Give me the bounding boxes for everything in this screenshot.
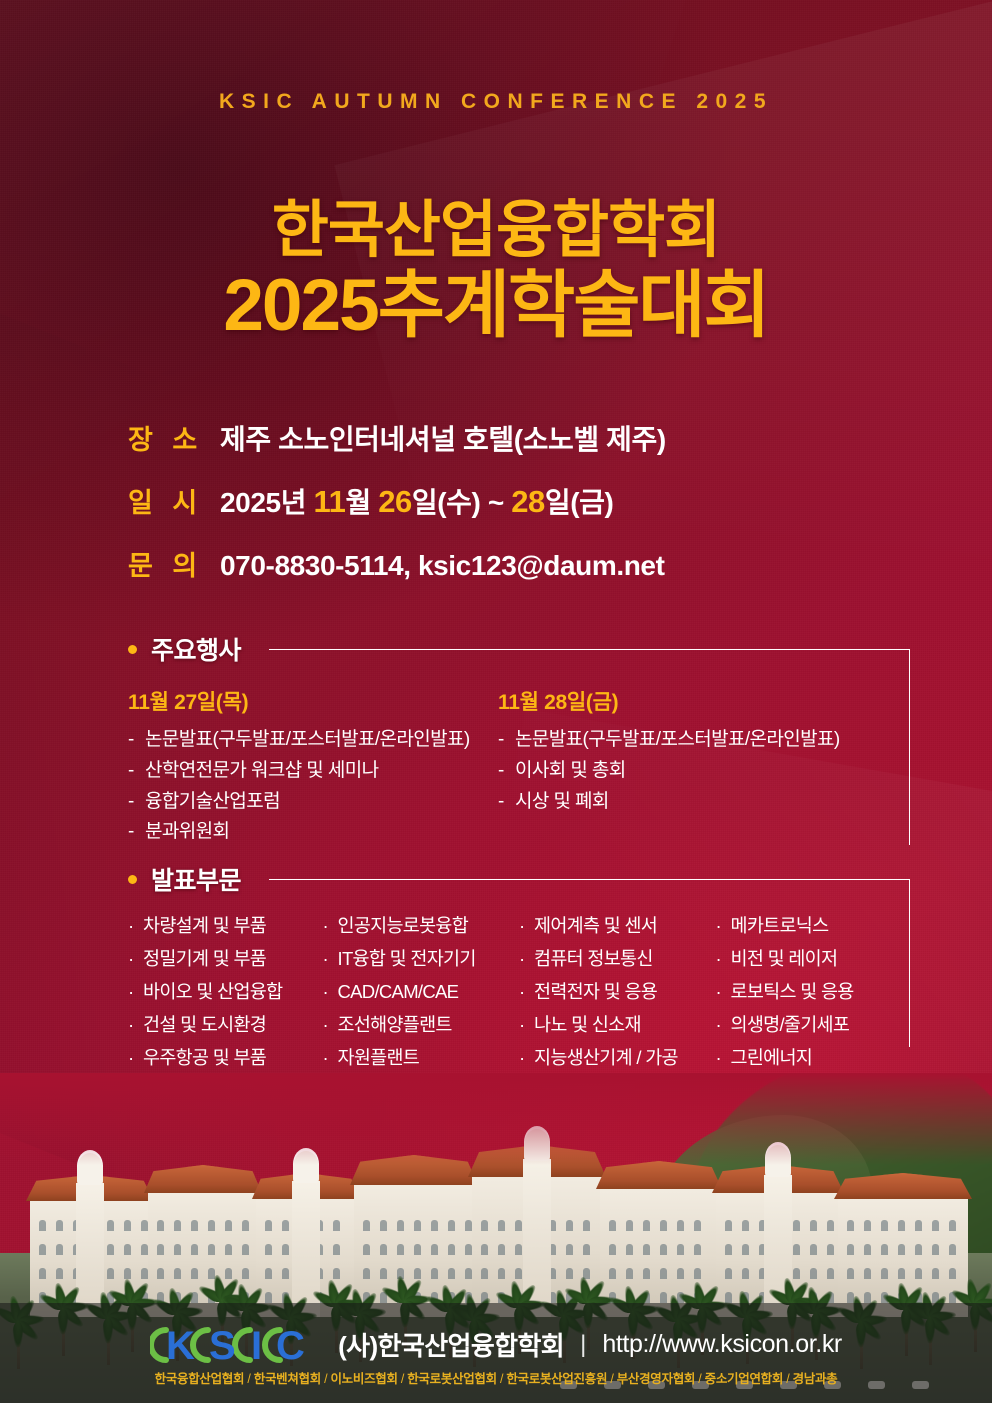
fields-column-4: ·메카트로닉스 ·비전 및 레이저 ·로보틱스 및 응용 ·의생명/줄기세포 ·… — [716, 910, 911, 1075]
field-item: ·자원플랜트 — [323, 1042, 520, 1075]
info-row-venue: 장 소 제주 소노인터네셔널 호텔(소노벨 제주) — [128, 418, 888, 458]
building-window — [242, 1220, 249, 1231]
building-window — [583, 1220, 590, 1231]
building-window — [660, 1244, 667, 1255]
bullet-marker: · — [128, 943, 143, 976]
building-window — [465, 1244, 472, 1255]
building-window — [208, 1220, 215, 1231]
field-item-label: 조선해양플랜트 — [338, 1014, 452, 1035]
organization-name: (사)한국산업융합학회 — [338, 1326, 564, 1363]
info-row-contact: 문 의 070-8830-5114, ksic123@daum.net — [128, 544, 888, 583]
events-heading: 주요행사 — [151, 631, 241, 667]
field-item: ·비전 및 레이저 — [716, 943, 911, 976]
building-window — [898, 1220, 905, 1231]
field-item: ·정밀기계 및 부품 — [128, 943, 323, 976]
building-window — [107, 1220, 114, 1231]
building-window — [810, 1244, 817, 1255]
building-window — [793, 1268, 800, 1279]
building-window — [626, 1244, 633, 1255]
events-item: -이사회 및 총회 — [498, 756, 868, 787]
events-column-day2: 11월 28일(금) -논문발표(구두발표/포스터발표/온라인발표) -이사회 … — [498, 686, 868, 848]
conference-poster: KSIC AUTUMN CONFERENCE 2025 한국산업융합학회 202… — [0, 0, 992, 1403]
building-window — [124, 1220, 131, 1231]
building-window — [448, 1268, 455, 1279]
events-date-day2: 11월 28일(금) — [498, 686, 868, 716]
building-window — [282, 1244, 289, 1255]
events-item: -논문발표(구두발표/포스터발표/온라인발표) — [128, 725, 498, 756]
hotel-roof — [596, 1161, 722, 1189]
building-window — [742, 1244, 749, 1255]
building-window — [481, 1244, 488, 1255]
building-window — [810, 1220, 817, 1231]
building-window — [265, 1268, 272, 1279]
bullet-marker: · — [323, 910, 338, 943]
dash-marker: - — [128, 817, 145, 848]
events-item-label: 산학연전문가 워크샵 및 세미나 — [145, 760, 378, 781]
building-window — [333, 1244, 340, 1255]
building-window — [107, 1268, 114, 1279]
building-window — [265, 1244, 272, 1255]
building-window — [225, 1244, 232, 1255]
section-rule-vertical — [909, 879, 910, 1047]
building-window — [742, 1220, 749, 1231]
events-item: -논문발표(구두발표/포스터발표/온라인발표) — [498, 725, 868, 756]
building-window — [949, 1268, 956, 1279]
events-item-label: 논문발표(구두발표/포스터발표/온라인발표) — [515, 729, 840, 750]
building-window — [363, 1268, 370, 1279]
building-window — [107, 1244, 114, 1255]
building-window — [949, 1220, 956, 1231]
building-window — [725, 1244, 732, 1255]
events-item: -산학연전문가 워크샵 및 세미나 — [128, 756, 498, 787]
hotel-roof — [350, 1155, 478, 1185]
field-item: ·전력전자 및 응용 — [519, 976, 716, 1009]
dash-marker: - — [498, 725, 515, 756]
events-item: -시상 및 폐회 — [498, 787, 868, 818]
building-window — [515, 1268, 522, 1279]
building-window — [677, 1268, 684, 1279]
field-item: ·컴퓨터 정보통신 — [519, 943, 716, 976]
date-end-suffix: 일(금) — [545, 487, 614, 518]
field-item-label: 자원플랜트 — [338, 1047, 420, 1068]
building-window — [56, 1244, 63, 1255]
dash-marker: - — [128, 756, 145, 787]
building-window — [333, 1220, 340, 1231]
building-window — [363, 1244, 370, 1255]
building-window — [191, 1268, 198, 1279]
affiliate-name: 한국융합산업협회 — [155, 1372, 245, 1386]
fields-section: 발표부문 ·차량설계 및 부품 ·정밀기계 및 부품 ·바이오 및 산업융합 ·… — [128, 862, 910, 1075]
svg-text:K: K — [166, 1324, 195, 1367]
hotel-roof — [144, 1165, 262, 1193]
bullet-marker: · — [519, 1009, 534, 1042]
building-window — [191, 1244, 198, 1255]
field-item-label: CAD/CAM/CAE — [338, 981, 459, 1002]
field-item-label: 나노 및 신소재 — [534, 1014, 641, 1035]
field-item: ·나노 및 신소재 — [519, 1009, 716, 1042]
building-window — [881, 1220, 888, 1231]
field-item-label: 비전 및 레이저 — [731, 948, 838, 969]
field-item: ·CAD/CAM/CAE — [323, 976, 520, 1009]
building-window — [56, 1220, 63, 1231]
building-window — [124, 1268, 131, 1279]
building-window — [282, 1220, 289, 1231]
building-window — [949, 1244, 956, 1255]
fields-heading: 발표부문 — [151, 861, 241, 897]
events-date-day1: 11월 27일(목) — [128, 686, 498, 716]
field-item-label: 전력전자 및 응용 — [534, 981, 657, 1002]
building-window — [174, 1220, 181, 1231]
building-window — [363, 1220, 370, 1231]
building-window — [932, 1268, 939, 1279]
field-item: ·의생명/줄기세포 — [716, 1009, 911, 1042]
fields-section-header: 발표부문 — [128, 862, 910, 896]
building-window — [465, 1268, 472, 1279]
section-rule-horizontal — [269, 879, 910, 880]
affiliate-name: 이노비즈협회 — [330, 1372, 397, 1386]
field-item-label: 제어계측 및 센서 — [534, 915, 657, 936]
building-window — [157, 1268, 164, 1279]
info-value-date: 2025년 11월 26일(수) ~ 28일(금) — [220, 481, 613, 521]
field-item-label: 인공지능로봇융합 — [338, 915, 469, 936]
bullet-dot-icon — [128, 875, 137, 884]
building-window — [431, 1244, 438, 1255]
field-item: ·메카트로닉스 — [716, 910, 911, 943]
info-row-date: 일 시 2025년 11월 26일(수) ~ 28일(금) — [128, 481, 888, 521]
events-section-header: 주요행사 — [128, 632, 910, 666]
date-month-number: 11 — [313, 484, 345, 519]
building-window — [208, 1244, 215, 1255]
bullet-marker: · — [128, 910, 143, 943]
field-item: ·로보틱스 및 응용 — [716, 976, 911, 1009]
field-item-label: 의생명/줄기세포 — [731, 1014, 850, 1035]
footer-separator: | — [580, 1331, 586, 1359]
svg-text:S: S — [209, 1324, 236, 1367]
field-item: ·우주항공 및 부품 — [128, 1042, 323, 1075]
building-window — [864, 1244, 871, 1255]
building-window — [414, 1244, 421, 1255]
building-window — [39, 1244, 46, 1255]
building-window — [333, 1268, 340, 1279]
events-item-label: 이사회 및 총회 — [515, 760, 626, 781]
building-window — [898, 1268, 905, 1279]
building-window — [725, 1268, 732, 1279]
page-title-line1: 한국산업융합학회 — [0, 198, 992, 265]
building-window — [793, 1220, 800, 1231]
building-window — [609, 1244, 616, 1255]
field-item: ·바이오 및 산업융합 — [128, 976, 323, 1009]
building-window — [660, 1268, 667, 1279]
info-label-date: 일 시 — [128, 481, 220, 520]
affiliate-separator: / — [607, 1372, 617, 1386]
footer-bar: K S I C (사)한국산업융합학회 | http://www.ksicon.… — [0, 1303, 992, 1403]
building-window — [609, 1220, 616, 1231]
building-window — [515, 1244, 522, 1255]
tower-dome — [524, 1129, 550, 1161]
building-window — [847, 1220, 854, 1231]
building-window — [157, 1244, 164, 1255]
building-window — [583, 1244, 590, 1255]
svg-text:C: C — [276, 1324, 305, 1367]
section-rule-vertical — [909, 649, 910, 845]
building-window — [677, 1220, 684, 1231]
building-window — [39, 1268, 46, 1279]
field-item: ·인공지능로봇융합 — [323, 910, 520, 943]
field-item-label: 차량설계 및 부품 — [143, 915, 266, 936]
field-item-label: IT융합 및 전자기기 — [338, 948, 476, 969]
bullet-marker: · — [128, 1009, 143, 1042]
building-window — [465, 1220, 472, 1231]
bullet-dot-icon — [128, 645, 137, 654]
bullet-marker: · — [323, 1009, 338, 1042]
bullet-marker: · — [716, 976, 731, 1009]
bullet-marker: · — [128, 1042, 143, 1075]
field-item-label: 그린에너지 — [731, 1047, 813, 1068]
events-item-label: 시상 및 폐회 — [515, 791, 609, 812]
field-item: ·건설 및 도시환경 — [128, 1009, 323, 1042]
building-window — [609, 1268, 616, 1279]
building-window — [566, 1268, 573, 1279]
date-start-suffix: 일(수) — [412, 487, 481, 518]
dash-marker: - — [128, 787, 145, 818]
bullet-marker: · — [716, 1009, 731, 1042]
building-window — [448, 1244, 455, 1255]
tower-dome — [77, 1153, 103, 1185]
field-item-label: 컴퓨터 정보통신 — [534, 948, 653, 969]
building-window — [626, 1220, 633, 1231]
building-window — [56, 1268, 63, 1279]
field-item: ·IT융합 및 전자기기 — [323, 943, 520, 976]
building-window — [124, 1244, 131, 1255]
building-window — [643, 1220, 650, 1231]
building-window — [414, 1268, 421, 1279]
bullet-marker: · — [323, 1042, 338, 1075]
building-window — [915, 1268, 922, 1279]
info-label-venue: 장 소 — [128, 418, 220, 457]
ksic-logo-svg: K S I C — [150, 1323, 322, 1367]
affiliate-separator: / — [244, 1372, 254, 1386]
info-value-contact: 070-8830-5114, ksic123@daum.net — [220, 550, 665, 582]
date-tilde: ~ — [488, 487, 504, 518]
building-window — [174, 1244, 181, 1255]
building-window — [174, 1268, 181, 1279]
events-column-day1: 11월 27일(목) -논문발표(구두발표/포스터발표/온라인발표) -산학연전… — [128, 686, 498, 848]
fields-columns: ·차량설계 및 부품 ·정밀기계 및 부품 ·바이오 및 산업융합 ·건설 및 … — [128, 910, 910, 1075]
building-window — [643, 1268, 650, 1279]
dash-marker: - — [128, 725, 145, 756]
eyebrow-text: KSIC AUTUMN CONFERENCE 2025 — [0, 90, 992, 114]
bullet-marker: · — [716, 1042, 731, 1075]
footer-main-row: K S I C (사)한국산업융합학회 | http://www.ksicon.… — [0, 1318, 992, 1368]
building-window — [566, 1220, 573, 1231]
building-window — [566, 1244, 573, 1255]
bullet-marker: · — [323, 943, 338, 976]
building-window — [881, 1268, 888, 1279]
field-item-label: 메카트로닉스 — [731, 915, 829, 936]
field-item-label: 우주항공 및 부품 — [143, 1047, 266, 1068]
building-window — [242, 1244, 249, 1255]
building-window — [847, 1268, 854, 1279]
building-window — [141, 1244, 148, 1255]
fields-column-2: ·인공지능로봇융합 ·IT융합 및 전자기기 ·CAD/CAM/CAE ·조선해… — [323, 910, 520, 1075]
bullet-marker: · — [519, 1042, 534, 1075]
building-window — [915, 1244, 922, 1255]
date-month-suffix: 월 — [345, 487, 370, 518]
affiliate-name: 한국벤쳐협회 — [254, 1372, 321, 1386]
building-window — [397, 1244, 404, 1255]
building-window — [827, 1268, 834, 1279]
building-window — [660, 1292, 667, 1303]
events-section: 주요행사 11월 27일(목) -논문발표(구두발표/포스터발표/온라인발표) … — [128, 632, 910, 848]
events-item-label: 분과위원회 — [145, 821, 229, 842]
fields-column-1: ·차량설계 및 부품 ·정밀기계 및 부품 ·바이오 및 산업융합 ·건설 및 … — [128, 910, 323, 1075]
affiliate-name: 한국로봇산업협회 — [407, 1372, 497, 1386]
affiliate-name: 부산경영자협회 — [617, 1372, 695, 1386]
affiliate-separator: / — [398, 1372, 408, 1386]
building-window — [898, 1244, 905, 1255]
title-block: 한국산업융합학회 2025추계학술대회 — [0, 198, 992, 347]
building-window — [265, 1220, 272, 1231]
page-title-line2: 2025추계학술대회 — [0, 265, 992, 347]
building-window — [932, 1244, 939, 1255]
building-window — [626, 1268, 633, 1279]
building-window — [498, 1268, 505, 1279]
building-window — [742, 1268, 749, 1279]
events-item-label: 융합기술산업포럼 — [145, 791, 280, 812]
building-window — [725, 1220, 732, 1231]
building-window — [397, 1220, 404, 1231]
building-window — [448, 1220, 455, 1231]
building-window — [141, 1220, 148, 1231]
events-item: -분과위원회 — [128, 817, 498, 848]
section-rule-horizontal — [269, 649, 910, 650]
field-item: ·제어계측 및 센서 — [519, 910, 716, 943]
building-window — [847, 1244, 854, 1255]
building-window — [864, 1220, 871, 1231]
dash-marker: - — [498, 787, 515, 818]
field-item-label: 바이오 및 산업융합 — [143, 981, 282, 1002]
bullet-marker: · — [519, 910, 534, 943]
field-item: ·그린에너지 — [716, 1042, 911, 1075]
bullet-marker: · — [519, 976, 534, 1009]
dash-marker: - — [498, 756, 515, 787]
building-window — [677, 1244, 684, 1255]
building-window — [282, 1268, 289, 1279]
building-window — [498, 1244, 505, 1255]
building-window — [643, 1244, 650, 1255]
affiliate-name: 중소기업연합회 — [705, 1372, 783, 1386]
building-window — [827, 1244, 834, 1255]
building-window — [141, 1268, 148, 1279]
building-window — [694, 1268, 701, 1279]
affiliate-separator: / — [783, 1372, 793, 1386]
building-window — [481, 1268, 488, 1279]
building-window — [793, 1244, 800, 1255]
building-window — [881, 1244, 888, 1255]
building-window — [191, 1220, 198, 1231]
field-item-label: 지능생산기계 / 가공 — [534, 1047, 678, 1068]
field-item-label: 건설 및 도시환경 — [143, 1014, 266, 1035]
building-window — [225, 1268, 232, 1279]
field-item: ·차량설계 및 부품 — [128, 910, 323, 943]
building-window — [380, 1220, 387, 1231]
fields-column-3: ·제어계측 및 센서 ·컴퓨터 정보통신 ·전력전자 및 응용 ·나노 및 신소… — [519, 910, 716, 1075]
field-item-label: 로보틱스 및 응용 — [731, 981, 854, 1002]
bullet-marker: · — [716, 910, 731, 943]
field-item: ·조선해양플랜트 — [323, 1009, 520, 1042]
info-label-contact: 문 의 — [128, 544, 220, 583]
building-window — [498, 1220, 505, 1231]
date-start-day: 26 — [378, 484, 412, 519]
building-window — [694, 1220, 701, 1231]
bullet-marker: · — [128, 976, 143, 1009]
tower-dome — [293, 1151, 319, 1183]
events-item-label: 논문발표(구두발표/포스터발표/온라인발표) — [145, 729, 470, 750]
building-window — [694, 1244, 701, 1255]
tower-dome — [765, 1145, 791, 1177]
building-window — [380, 1268, 387, 1279]
building-window — [157, 1220, 164, 1231]
building-window — [414, 1220, 421, 1231]
website-url[interactable]: http://www.ksicon.or.kr — [602, 1330, 842, 1359]
building-window — [932, 1220, 939, 1231]
field-item: ·지능생산기계 / 가공 — [519, 1042, 716, 1075]
building-window — [864, 1268, 871, 1279]
info-block: 장 소 제주 소노인터네셔널 호텔(소노벨 제주) 일 시 2025년 11월 … — [128, 418, 888, 606]
building-window — [431, 1220, 438, 1231]
hotel-roof — [834, 1173, 972, 1199]
building-window — [481, 1220, 488, 1231]
building-window — [515, 1220, 522, 1231]
info-value-venue: 제주 소노인터네셔널 호텔(소노벨 제주) — [220, 418, 666, 458]
bullet-marker: · — [519, 943, 534, 976]
events-columns: 11월 27일(목) -논문발표(구두발표/포스터발표/온라인발표) -산학연전… — [128, 686, 910, 848]
building-window — [827, 1220, 834, 1231]
building-window — [265, 1292, 272, 1303]
affiliate-name: 경남과총 — [793, 1372, 838, 1386]
ksic-logo: K S I C — [150, 1323, 322, 1367]
events-item: -융합기술산업포럼 — [128, 787, 498, 818]
affiliate-name: 한국로봇산업진흥원 — [506, 1372, 607, 1386]
affiliate-list: 한국융합산업협회 / 한국벤쳐협회 / 이노비즈협회 / 한국로봇산업협회 / … — [0, 1368, 992, 1389]
building-window — [915, 1220, 922, 1231]
svg-text:I: I — [251, 1324, 262, 1367]
building-window — [39, 1220, 46, 1231]
affiliate-separator: / — [695, 1372, 705, 1386]
building-window — [660, 1220, 667, 1231]
bullet-marker: · — [323, 976, 338, 1009]
building-window — [431, 1268, 438, 1279]
field-item-label: 정밀기계 및 부품 — [143, 948, 266, 969]
building-window — [242, 1268, 249, 1279]
building-window — [380, 1244, 387, 1255]
building-window — [810, 1268, 817, 1279]
affiliate-separator: / — [497, 1372, 507, 1386]
building-window — [225, 1220, 232, 1231]
date-year: 2025년 — [220, 487, 306, 518]
bullet-marker: · — [716, 943, 731, 976]
date-end-day: 28 — [511, 484, 545, 519]
